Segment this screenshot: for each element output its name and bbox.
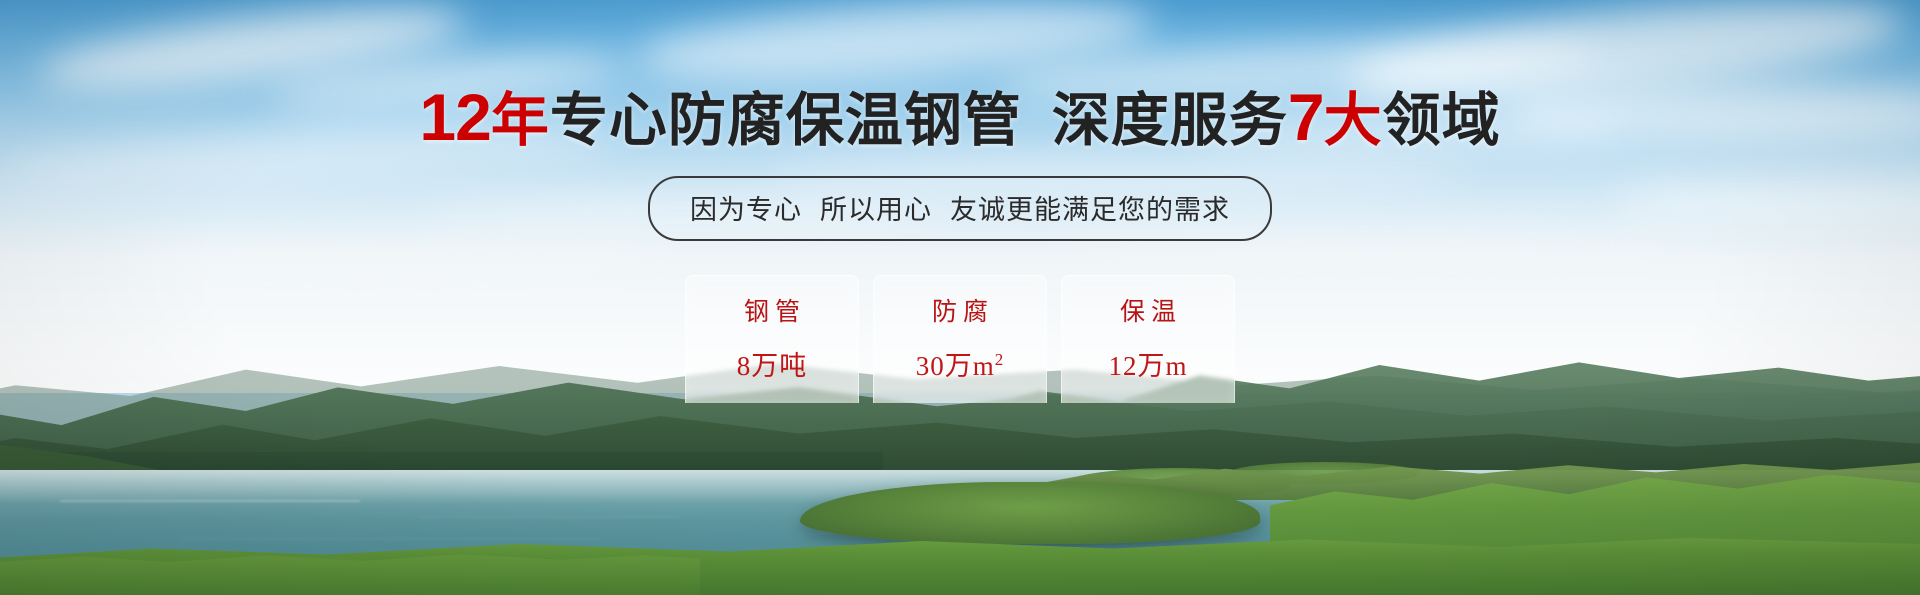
banner-subtitle-pill: 因为专心所以用心友诚更能满足您的需求: [648, 176, 1272, 241]
headline-part-c: 领域: [1383, 88, 1501, 153]
headline-fields-unit: 大: [1324, 88, 1383, 153]
banner-headline: 12年专心防腐保温钢管深度服务7大领域: [419, 84, 1500, 150]
headline-years-number: 12: [419, 80, 490, 154]
stat-value-text: 8万吨: [737, 351, 808, 381]
stat-label: 保温: [1062, 292, 1234, 328]
stat-value-text: 30万m: [916, 351, 995, 381]
stat-value: 12万m: [1062, 344, 1234, 383]
subtitle-segment-1: 因为专心: [690, 195, 802, 225]
banner-content: 12年专心防腐保温钢管深度服务7大领域 因为专心所以用心友诚更能满足您的需求 钢…: [0, 0, 1920, 595]
stat-value-superscript: 2: [995, 350, 1005, 369]
stat-value: 8万吨: [686, 344, 858, 383]
stat-label: 防腐: [874, 292, 1046, 328]
stat-label: 钢管: [686, 292, 858, 328]
stat-card-anticorrosion: 防腐 30万m2: [873, 275, 1047, 403]
hero-banner: 12年专心防腐保温钢管深度服务7大领域 因为专心所以用心友诚更能满足您的需求 钢…: [0, 0, 1920, 595]
stat-card-steel-pipe: 钢管 8万吨: [685, 275, 859, 403]
headline-fields-number: 7: [1288, 80, 1324, 154]
stat-card-insulation: 保温 12万m: [1061, 275, 1235, 403]
headline-part-a: 专心防腐保温钢管: [550, 88, 1022, 153]
stats-card-group: 钢管 8万吨 防腐 30万m2 保温 12万m: [685, 275, 1235, 403]
stat-value-text: 12万m: [1108, 351, 1187, 381]
headline-years-unit: 年: [491, 88, 550, 153]
headline-part-b: 深度服务: [1052, 88, 1288, 153]
subtitle-segment-3: 友诚更能满足您的需求: [950, 195, 1230, 225]
stat-value: 30万m2: [874, 344, 1046, 383]
subtitle-segment-2: 所以用心: [820, 195, 932, 225]
